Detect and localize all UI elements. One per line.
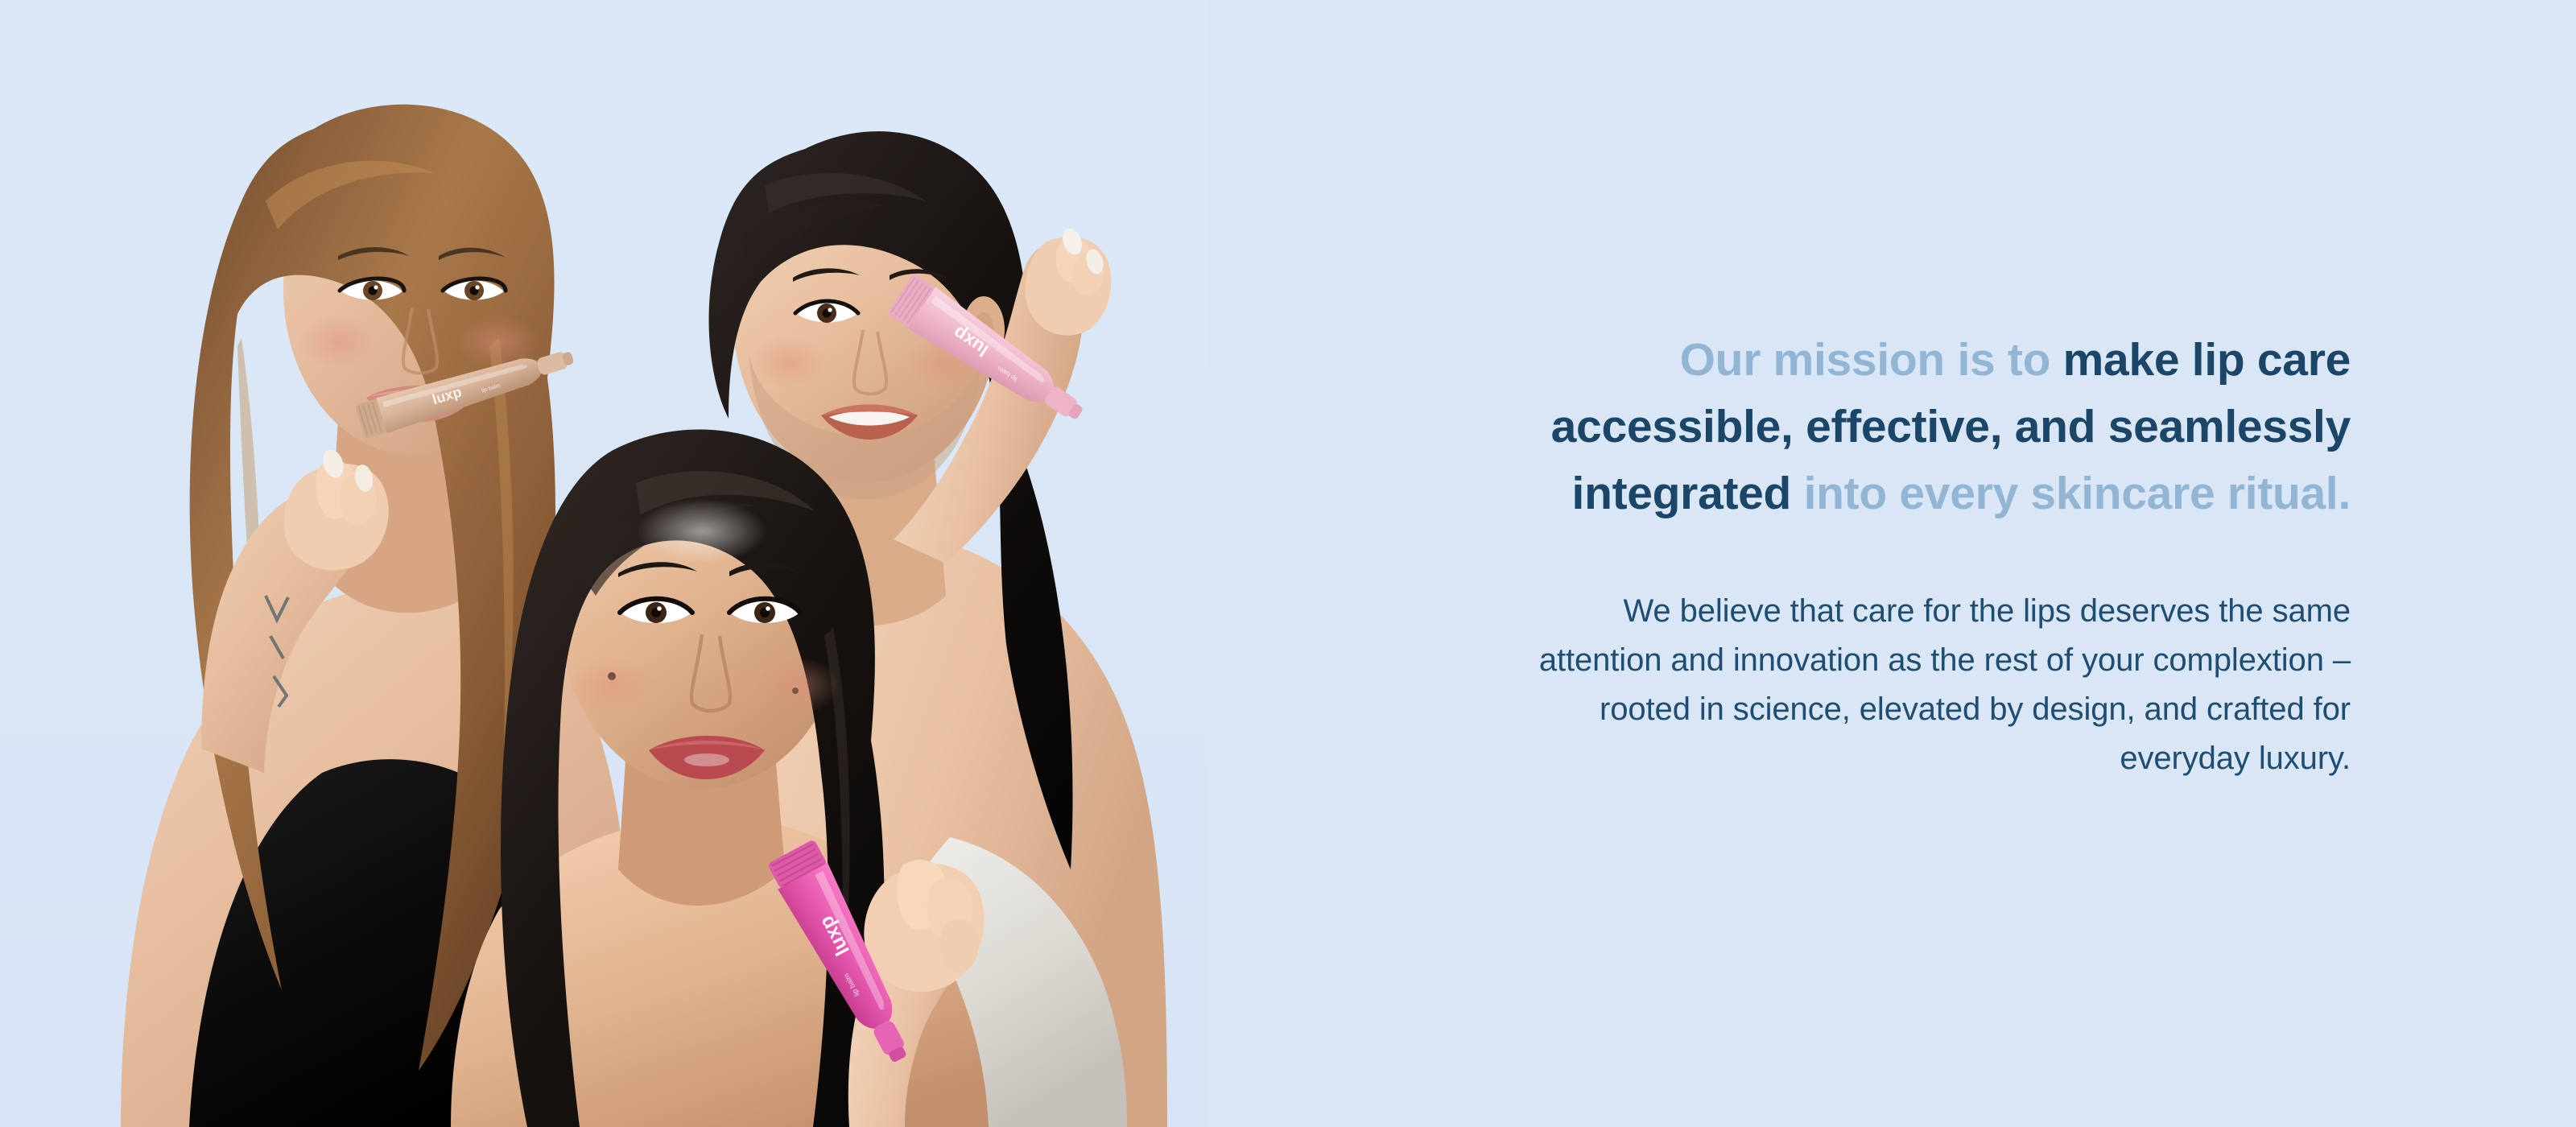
headline-lead-muted: Our mission is to (1680, 334, 2063, 386)
hero-text-region: Our mission is to make lip care accessib… (1288, 0, 2576, 1127)
headline-emphasis-line3: integrated (1572, 468, 1792, 519)
mission-hero-section: luxp lip balm (0, 0, 2576, 1127)
mission-body-copy: We believe that care for the lips deserv… (1521, 587, 2351, 783)
copy-block: Our mission is to make lip care accessib… (1521, 327, 2351, 783)
headline-emphasis-line2: accessible, effective, and seamlessly (1551, 401, 2351, 452)
headline-emphasis-line1: make lip care (2063, 334, 2351, 386)
headline-tail-muted: into every skincare ritual. (1791, 468, 2351, 519)
mission-headline: Our mission is to make lip care accessib… (1521, 327, 2351, 527)
hero-photo: luxp lip balm (0, 0, 1288, 1127)
